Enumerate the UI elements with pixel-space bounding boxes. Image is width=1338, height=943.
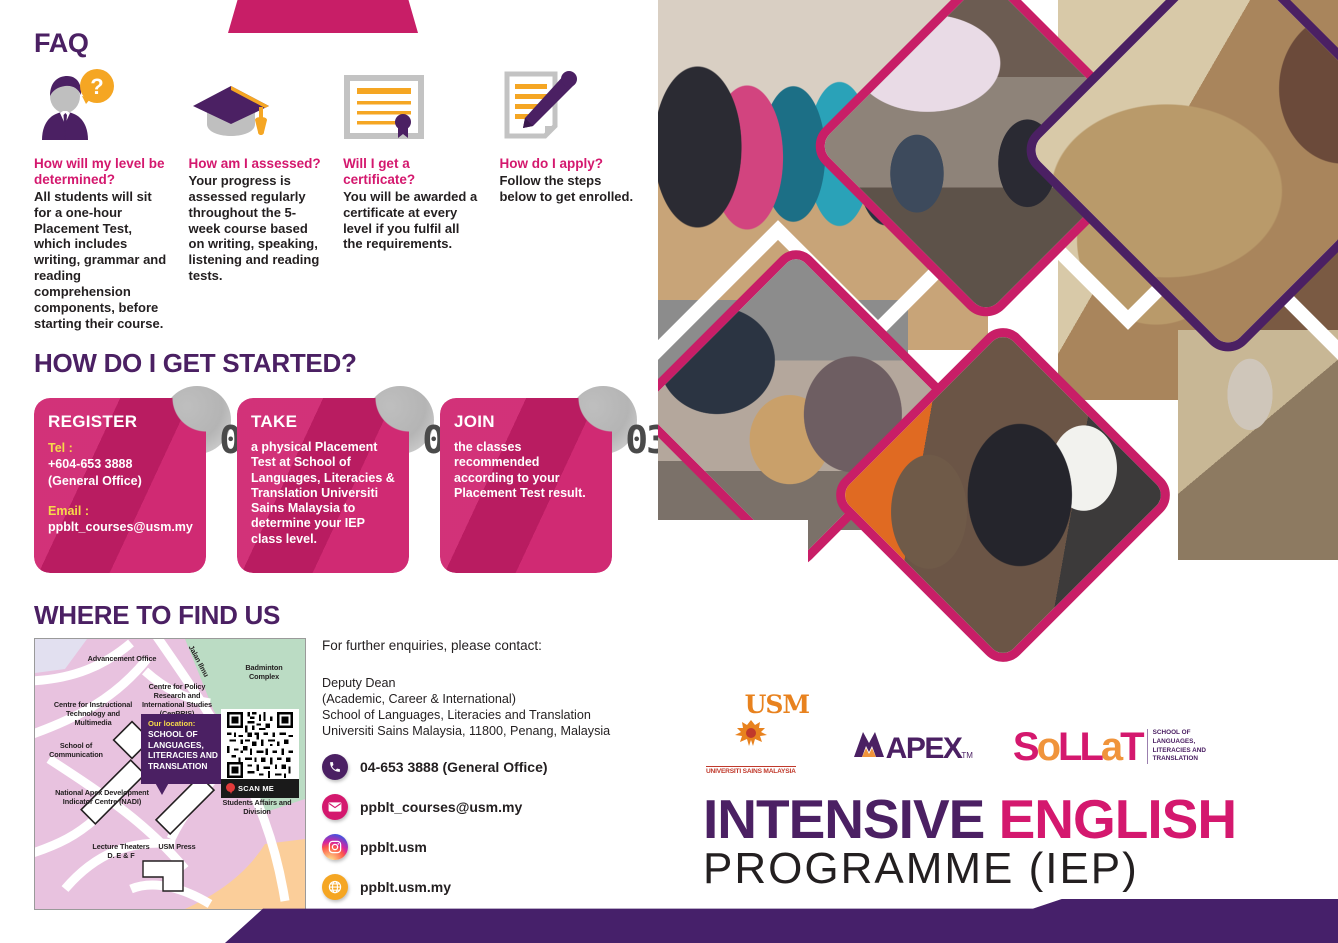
instagram-icon [322,834,348,860]
faq-answer: All students will sit for a one-hour Pla… [34,189,171,332]
title-intensive: INTENSIVE [703,788,984,850]
svg-text:?: ? [90,74,103,99]
step-body-text: a physical Placement Test at School of L… [251,440,397,547]
get-started-title: HOW DO I GET STARTED? [34,348,357,379]
faq-grid: ? How will my level be determined? All s… [34,68,654,332]
faq-answer: Your progress is assessed regularly thro… [189,173,326,284]
photo-collage [658,0,1338,712]
contact-row-phone[interactable]: 04-653 3888 (General Office) [322,753,652,781]
sollat-logo: SoLLaT SCHOOL OF LANGUAGES, LITERACIES A… [1013,729,1206,765]
faq-answer: Follow the steps below to get enrolled. [499,173,636,205]
step-tel-label: Tel : [48,440,194,456]
usm-crest-icon [729,718,773,748]
faq-question: How will my level be determined? [34,156,171,188]
website-text: ppblt.usm.my [360,879,451,895]
faq-item: How am I assessed? Your progress is asse… [189,68,344,332]
left-column: FAQ ? How will my level be d [0,0,668,943]
scan-me-label: SCAN ME [238,784,274,793]
step-card-register[interactable]: 01 REGISTER Tel : +604-653 3888 (General… [34,398,209,573]
map-label: Centre for Instructional Technology and … [53,701,133,728]
map-label: Advancement Office [87,655,157,664]
faq-question: Will I get a certificate? [343,156,481,188]
contact-lead: For further enquiries, please contact: [322,638,652,653]
brochure-page: FAQ ? How will my level be d [0,0,1338,943]
apex-tm: TM [961,751,973,760]
faq-item: Will I get a certificate? You will be aw… [343,68,499,332]
title-line-2: PROGRAMME (IEP) [703,846,1236,892]
certificate-icon [343,68,481,140]
faq-item: ? How will my level be determined? All s… [34,68,189,332]
step-card-body: JOIN the classes recommended according t… [440,398,612,573]
sollat-tagline: SCHOOL OF LANGUAGES, LITERACIES AND TRAN… [1147,729,1206,764]
contact-address: Deputy Dean (Academic, Career & Internat… [322,675,652,739]
apex-mountain-icon [852,728,886,758]
step-card-join[interactable]: 03 JOIN the classes recommended accordin… [440,398,615,573]
usm-logo: USM UNIVERSITI SAINS MALAYSIA [706,718,796,775]
sollat-wordmark: SoLLaT [1013,729,1142,765]
contact-row-website[interactable]: ppblt.usm.my [322,873,652,901]
step-heading: REGISTER [48,412,194,432]
qr-code[interactable] [221,709,299,787]
contact-block: For further enquiries, please contact: D… [322,638,652,913]
apex-logo: APEX TM [852,728,973,766]
step-body-text: the classes recommended according to you… [454,440,600,501]
usm-wordmark: USM [745,692,810,717]
map-pin-marker [153,779,171,795]
instagram-text: ppblt.usm [360,839,427,855]
title-english: ENGLISH [999,788,1236,850]
map-label: USM Press [147,843,207,852]
email-text: ppblt_courses@usm.my [360,799,522,815]
logo-row: USM UNIVERSITI SAINS MALAYSIA APEX TM So… [706,718,1206,775]
usm-subtitle: UNIVERSITI SAINS MALAYSIA [706,766,796,775]
globe-icon [322,874,348,900]
person-question-icon: ? [34,68,171,140]
faq-question: How do I apply? [499,156,636,172]
step-email-value: ppblt_courses@usm.my [48,519,194,535]
phone-icon [322,754,348,780]
phone-text: 04-653 3888 (General Office) [360,759,548,775]
map-label: National Apex Development Indicator Cent… [47,789,157,807]
where-to-find-us-title: WHERE TO FIND US [34,600,280,631]
map-label: School of Communication [39,742,113,760]
step-heading: JOIN [454,412,600,432]
qr-code-graphic [224,712,296,778]
envelope-icon [322,794,348,820]
document-pencil-icon [499,68,636,140]
graduation-cap-icon [189,68,326,140]
step-card-body: TAKE a physical Placement Test at School… [237,398,409,573]
steps-container: 01 REGISTER Tel : +604-653 3888 (General… [34,388,654,578]
apex-wordmark: APEX [886,732,962,766]
map-label: Badminton Complex [231,664,297,682]
step-heading: TAKE [251,412,397,432]
step-card-take[interactable]: 02 TAKE a physical Placement Test at Sch… [237,398,412,573]
faq-section-title: FAQ [34,28,89,59]
programme-title: INTENSIVE ENGLISH PROGRAMME (IEP) [703,793,1236,892]
map-label: Students Affairs and Division [219,799,295,817]
contact-row-instagram[interactable]: ppblt.usm [322,833,652,861]
faq-item: How do I apply? Follow the steps below t… [499,68,654,332]
location-pin-icon [226,783,235,794]
faq-question: How am I assessed? [189,156,326,172]
faq-answer: You will be awarded a certificate at eve… [343,189,481,252]
map-label: Lecture Theaters D. E & F [91,843,151,861]
step-card-body: REGISTER Tel : +604-653 3888 (General Of… [34,398,206,573]
step-tel-value: +604-653 3888 (General Office) [48,456,194,489]
step-email-label: Email : [48,503,194,519]
campus-map[interactable]: Advancement Office Jalan Ilmu Badminton … [34,638,306,910]
contact-row-email[interactable]: ppblt_courses@usm.my [322,793,652,821]
title-line-1: INTENSIVE ENGLISH [703,793,1236,846]
scan-me-bar: SCAN ME [221,779,299,798]
